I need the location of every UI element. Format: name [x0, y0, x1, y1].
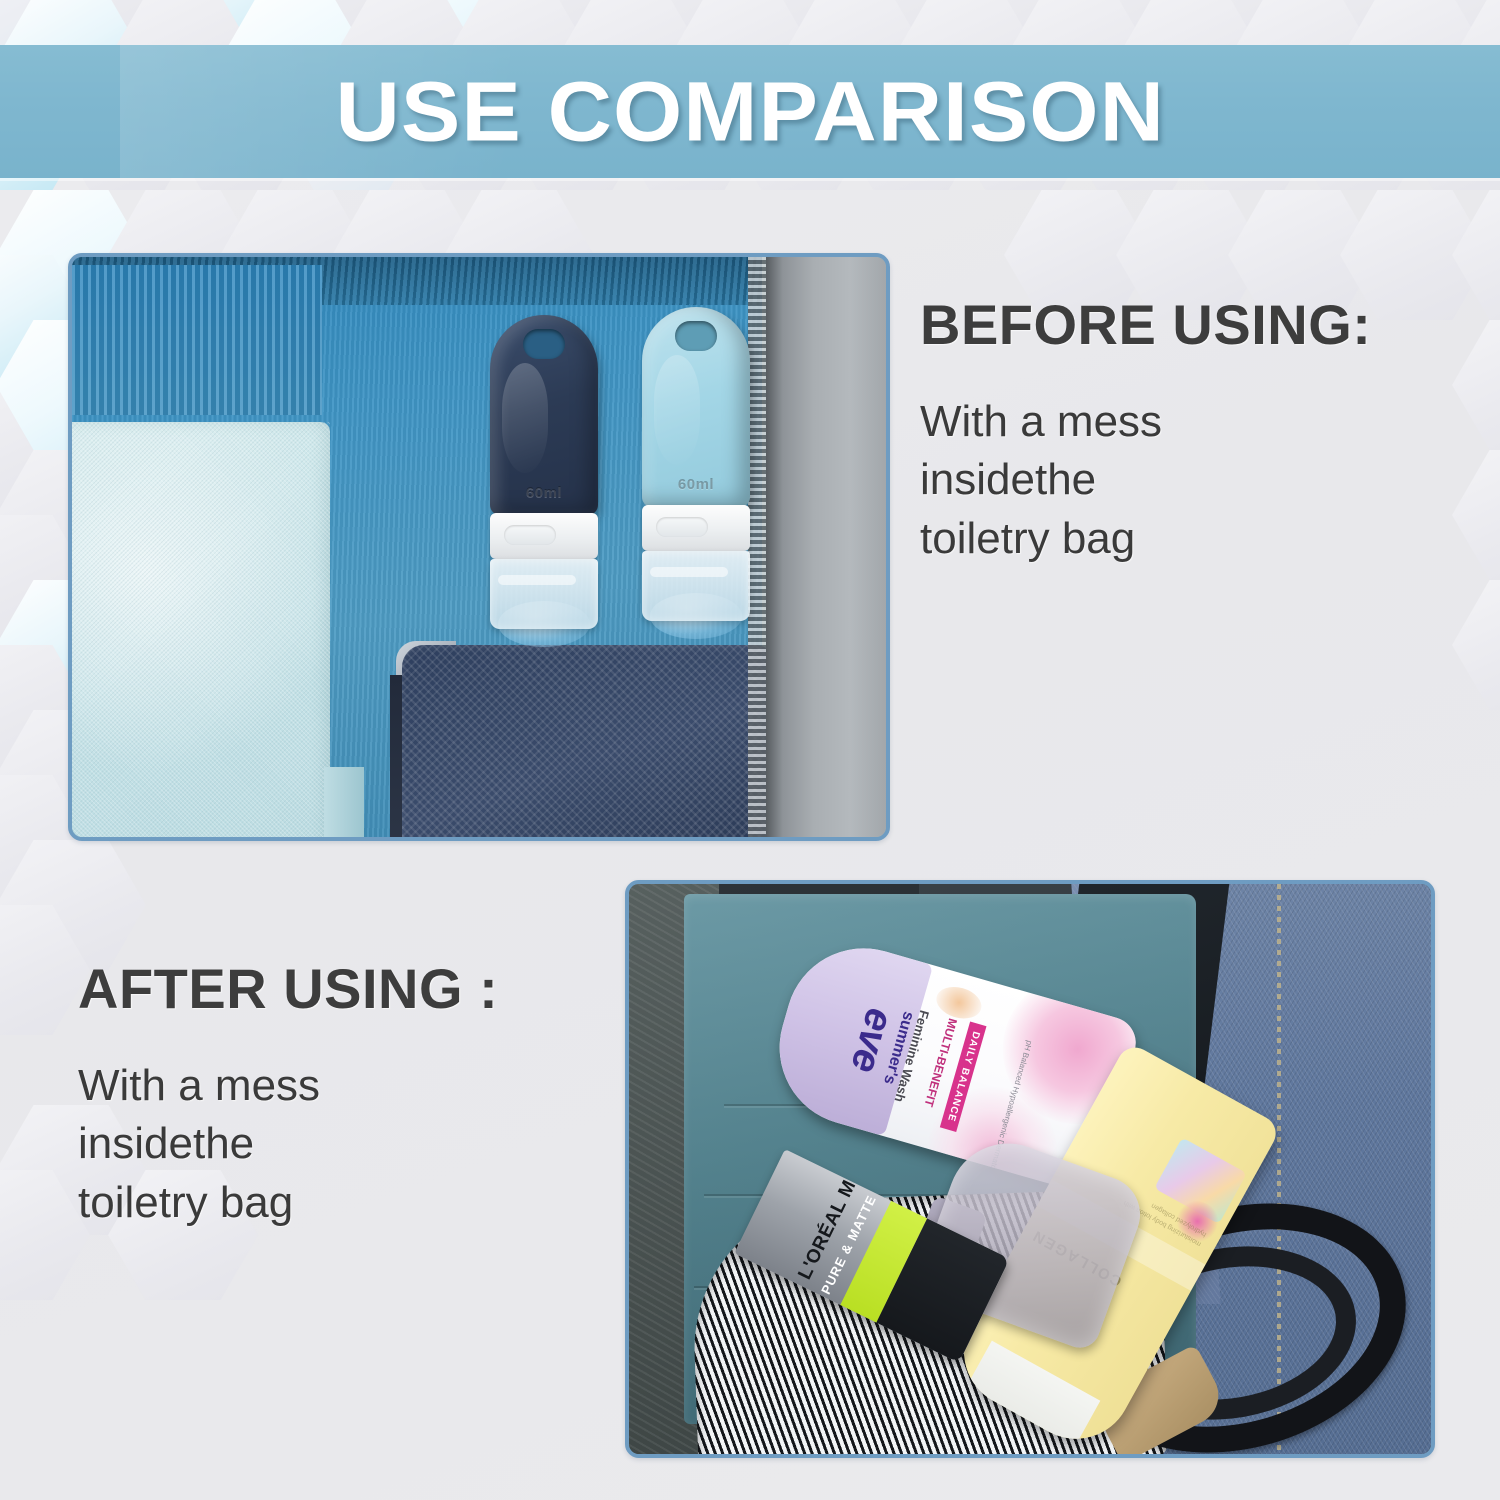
navy-bottle-collar: [490, 513, 598, 559]
before-body-line-2: insidethe: [920, 451, 1371, 510]
after-photo-frame: summer's eve Feminine Wash MULTI-BENEFIT…: [625, 880, 1435, 1458]
before-photo-frame: 60ml 60ml: [68, 253, 890, 841]
light-bottle-highlight: [654, 355, 700, 465]
navy-travel-bottle: 60ml: [490, 315, 598, 629]
before-body-line-3: toiletry bag: [920, 510, 1371, 569]
light-blue-travel-bottle: 60ml: [642, 307, 750, 621]
light-bottle-collar-tab: [656, 517, 708, 537]
after-body-line-1: With a mess: [78, 1057, 498, 1116]
packed-bag-scene: summer's eve Feminine Wash MULTI-BENEFIT…: [629, 884, 1431, 1454]
navy-bottle-highlight: [502, 363, 548, 473]
mint-towel: [72, 422, 330, 837]
before-body: With a mess insidethe toiletry bag: [920, 393, 1371, 569]
navy-bottle-volume-label: 60ml: [526, 484, 562, 501]
before-text-block: BEFORE USING: With a mess insidethe toil…: [920, 296, 1371, 568]
after-body: With a mess insidethe toiletry bag: [78, 1057, 498, 1233]
page-title: USE COMPARISON: [0, 63, 1500, 160]
suitcase-scene: 60ml 60ml: [72, 257, 886, 837]
towel-edge: [324, 767, 364, 837]
navy-bottle-hang-hole: [523, 329, 565, 359]
light-bottle-body: 60ml: [642, 307, 750, 507]
navy-mesh-pouch: [402, 645, 777, 837]
light-bottle-clear-cap: [642, 551, 750, 621]
after-heading: AFTER USING :: [78, 960, 498, 1019]
navy-bottle-collar-tab: [504, 525, 556, 545]
after-text-block: AFTER USING : With a mess insidethe toil…: [78, 960, 498, 1232]
after-body-line-3: toiletry bag: [78, 1174, 498, 1233]
light-bottle-volume-label: 60ml: [678, 476, 714, 493]
navy-bottle-clear-cap: [490, 559, 598, 629]
before-body-line-1: With a mess: [920, 393, 1371, 452]
eve-peach-accent: [933, 982, 985, 1024]
before-heading: BEFORE USING:: [920, 296, 1371, 355]
navy-bottle-body: 60ml: [490, 315, 598, 515]
title-banner: USE COMPARISON: [0, 45, 1500, 178]
page-title-text: USE COMPARISON: [335, 63, 1164, 160]
light-bottle-hang-hole: [675, 321, 717, 351]
after-body-line-2: insidethe: [78, 1115, 498, 1174]
suitcase-shell: [766, 257, 886, 837]
ribbed-blue-fabric: [72, 265, 322, 415]
light-bottle-collar: [642, 505, 750, 551]
